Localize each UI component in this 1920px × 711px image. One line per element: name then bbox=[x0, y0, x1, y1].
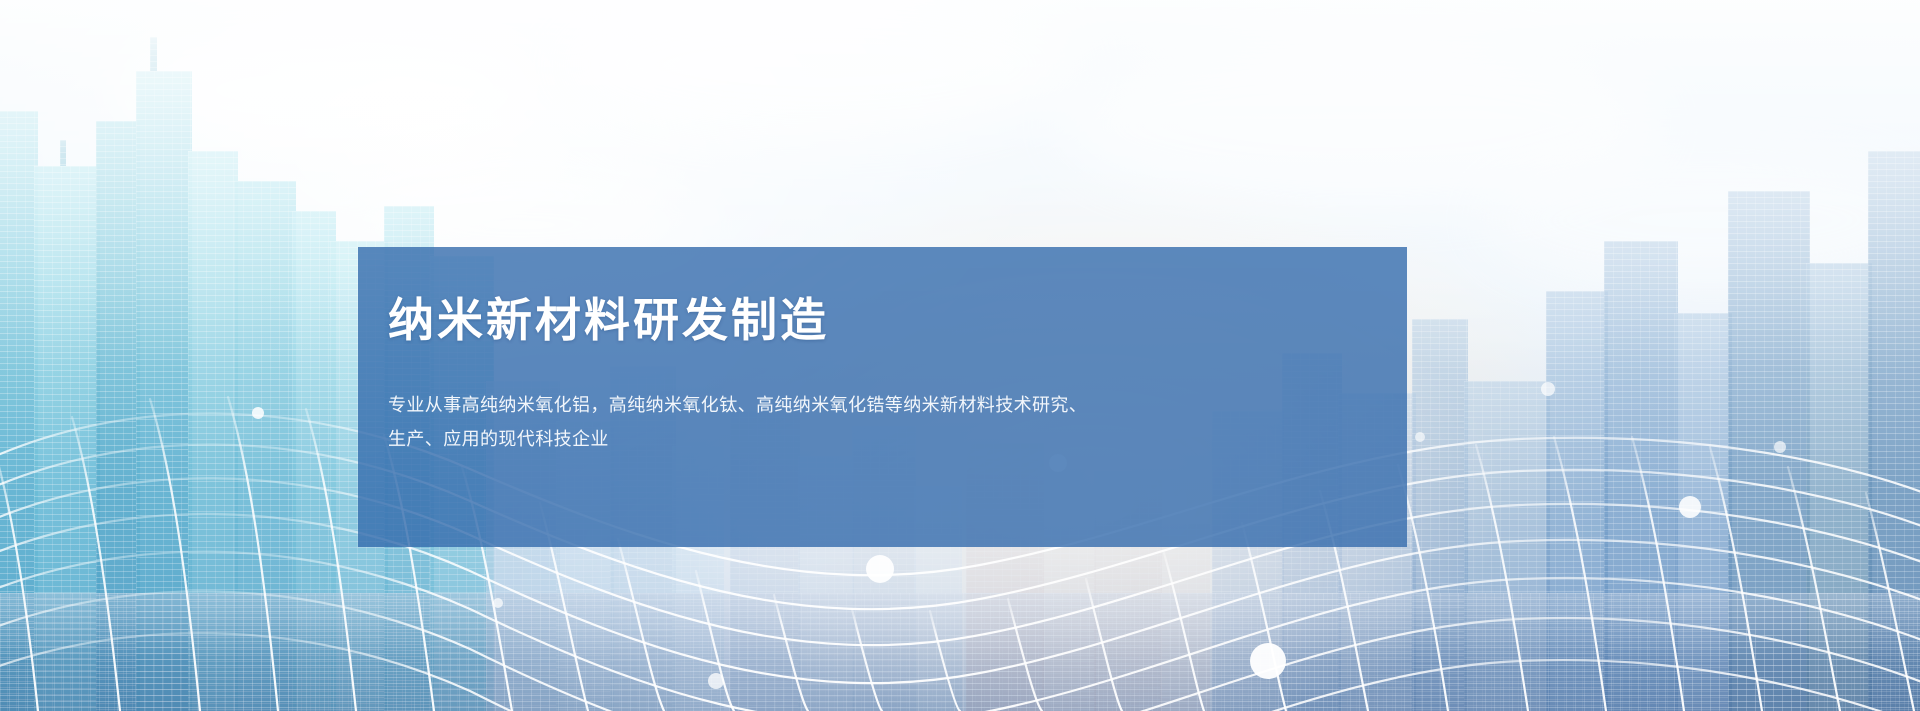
hero-subtitle: 专业从事高纯纳米氧化铝，高纯纳米氧化钛、高纯纳米氧化锆等纳米新材料技术研究、 生… bbox=[388, 388, 1198, 456]
hero-banner: 纳米新材料研发制造 专业从事高纯纳米氧化铝，高纯纳米氧化钛、高纯纳米氧化锆等纳米… bbox=[0, 0, 1920, 711]
hero-subtitle-line-1: 专业从事高纯纳米氧化铝，高纯纳米氧化钛、高纯纳米氧化锆等纳米新材料技术研究、 bbox=[388, 395, 1087, 415]
page-title: 纳米新材料研发制造 bbox=[388, 295, 1407, 346]
hero-text-panel: 纳米新材料研发制造 专业从事高纯纳米氧化铝，高纯纳米氧化钛、高纯纳米氧化锆等纳米… bbox=[358, 247, 1407, 547]
hero-subtitle-line-2: 生产、应用的现代科技企业 bbox=[388, 429, 609, 449]
